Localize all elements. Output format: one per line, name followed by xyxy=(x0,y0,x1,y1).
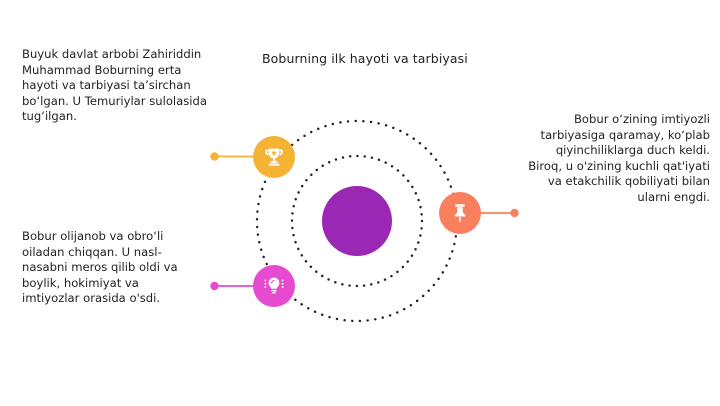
infographic-canvas: Boburning ilk hayoti va tarbiyasi Buyuk … xyxy=(0,0,720,406)
connector-dot-pin xyxy=(510,209,518,217)
lightbulb-icon xyxy=(262,274,286,298)
node-pin[interactable] xyxy=(439,192,481,234)
connector-dot-bulb xyxy=(210,282,218,290)
pushpin-icon xyxy=(448,201,472,225)
node-text-bulb: Bobur olijanob va obro‘li oiladan chiqqa… xyxy=(22,229,198,307)
page-title: Boburning ilk hayoti va tarbiyasi xyxy=(262,51,468,66)
node-bulb[interactable] xyxy=(253,265,295,307)
connector-dot-trophy xyxy=(210,152,218,160)
node-text-trophy: Buyuk davlat arbobi Zahiriddin Muhammad … xyxy=(22,47,210,125)
center-circle xyxy=(322,186,392,256)
node-text-pin: Bobur o‘zining imtiyozli tarbiyasiga qar… xyxy=(524,112,710,206)
node-trophy[interactable] xyxy=(253,136,295,178)
trophy-icon xyxy=(262,145,286,169)
